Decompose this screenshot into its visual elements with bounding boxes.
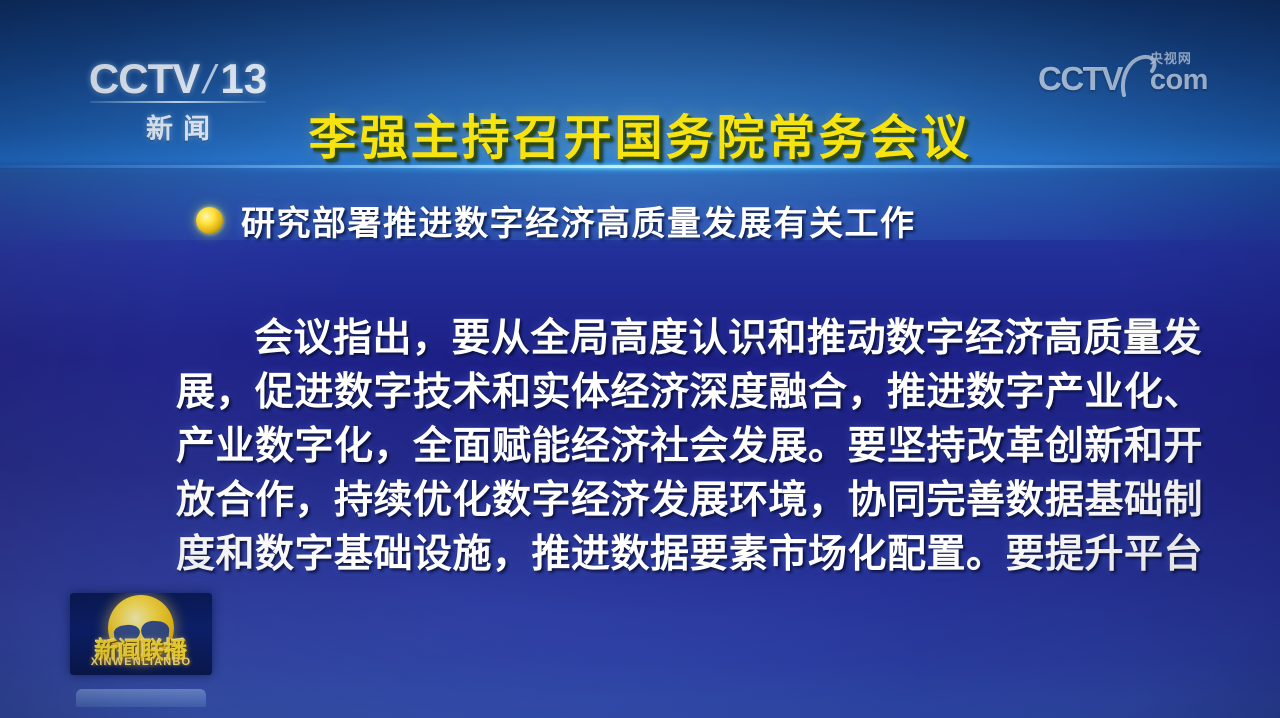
body-line: 会议指出，要从全局高度认识和推动数字经济高质量发 [176,312,1110,366]
watermark-row: CCTV 央视网 com [1038,52,1228,95]
body-line: 展，促进数字技术和实体经济深度融合，推进数字产业化、 [176,366,1110,420]
subtitle-text: 研究部署推进数字经济高质量发展有关工作 [241,196,916,245]
headline-title: 李强主持召开国务院常务会议 [0,98,1280,168]
subtitle-row: 研究部署推进数字经济高质量发展有关工作 [196,196,916,245]
channel-network-text: CCTV [89,58,199,100]
body-paragraph: 会议指出，要从全局高度认识和推动数字经济高质量发 展，促进数字技术和实体经济深度… [176,312,1110,582]
body-line: 度和数字基础设施，推进数据要素市场化配置。要提升平台 [176,528,1110,582]
watermark-tld-text: com [1150,66,1208,95]
body-line: 产业数字化，全面赋能经济社会发展。要坚持改革创新和开 [176,420,1110,474]
watermark-network-text: CCTV [1038,62,1122,95]
broadcast-screen: CCTV / 13 新闻 CCTV 央视网 com 李强主持召开国务院常务会议 … [0,0,1280,718]
watermark-right-column: 央视网 com [1150,52,1208,95]
channel-separator-icon: / [200,60,220,100]
watermark-arc-icon [1120,55,1154,95]
lower-third-bar [76,689,206,707]
watermark-site-cn-text: 央视网 [1150,52,1192,65]
program-name-en-text: XINWENLIANBO [70,656,212,668]
xinwen-lianbo-logo: 新闻联播 XINWENLIANBO [70,593,212,675]
body-line: 放合作，持续优化数字经济发展环境，协同完善数据基础制 [176,474,1110,528]
gold-bullet-dot-icon [196,207,223,234]
channel-bug-main-row: CCTV / 13 [78,58,278,100]
channel-number-text: 13 [220,58,267,100]
